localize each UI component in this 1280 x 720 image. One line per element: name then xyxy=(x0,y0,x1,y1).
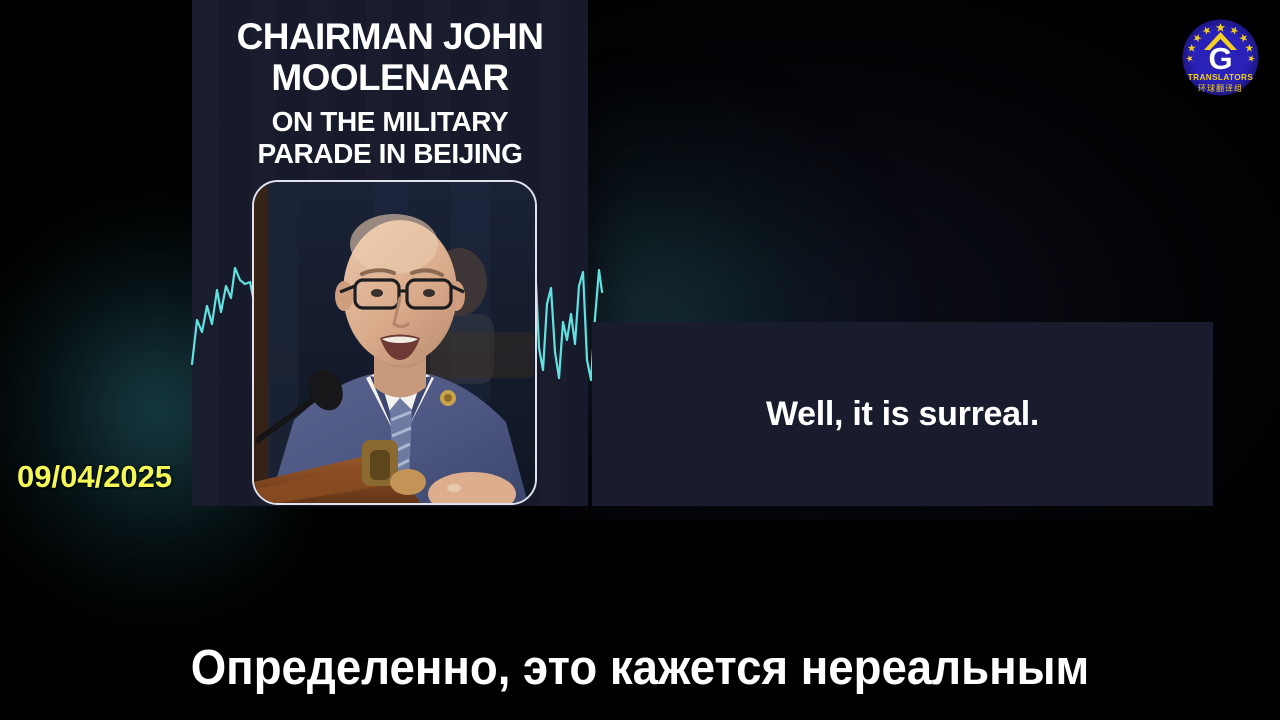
russian-subtitle: Определенно, это кажется нереальным xyxy=(45,640,1235,696)
g-translators-logo-icon: G TRANSLATORS 环球翻译组 xyxy=(1177,14,1264,101)
speaker-photo xyxy=(254,182,535,503)
logo-wordmark: TRANSLATORS xyxy=(1188,73,1254,82)
speaker-photo-illustration xyxy=(254,182,535,503)
speaker-portrait-card xyxy=(252,180,537,505)
headline-line-1: CHAIRMAN JOHN xyxy=(192,16,588,57)
subheadline-line-1: ON THE MILITARY xyxy=(192,106,588,138)
date-stamp: 09/04/2025 xyxy=(17,459,172,495)
headline-block: CHAIRMAN JOHN MOOLENAAR ON THE MILITARY … xyxy=(192,16,588,170)
subheadline-line-2: PARADE IN BEIJING xyxy=(192,138,588,170)
logo-letter: G xyxy=(1208,41,1232,76)
logo-cjk-text: 环球翻译组 xyxy=(1198,83,1243,93)
english-caption-panel: Well, it is surreal. xyxy=(592,322,1213,506)
video-player-stage: CHAIRMAN JOHN MOOLENAAR ON THE MILITARY … xyxy=(0,0,1280,720)
translators-watermark-logo: G TRANSLATORS 环球翻译组 xyxy=(1177,14,1264,101)
headline-line-2: MOOLENAAR xyxy=(192,57,588,98)
english-caption-text: Well, it is surreal. xyxy=(766,395,1039,434)
